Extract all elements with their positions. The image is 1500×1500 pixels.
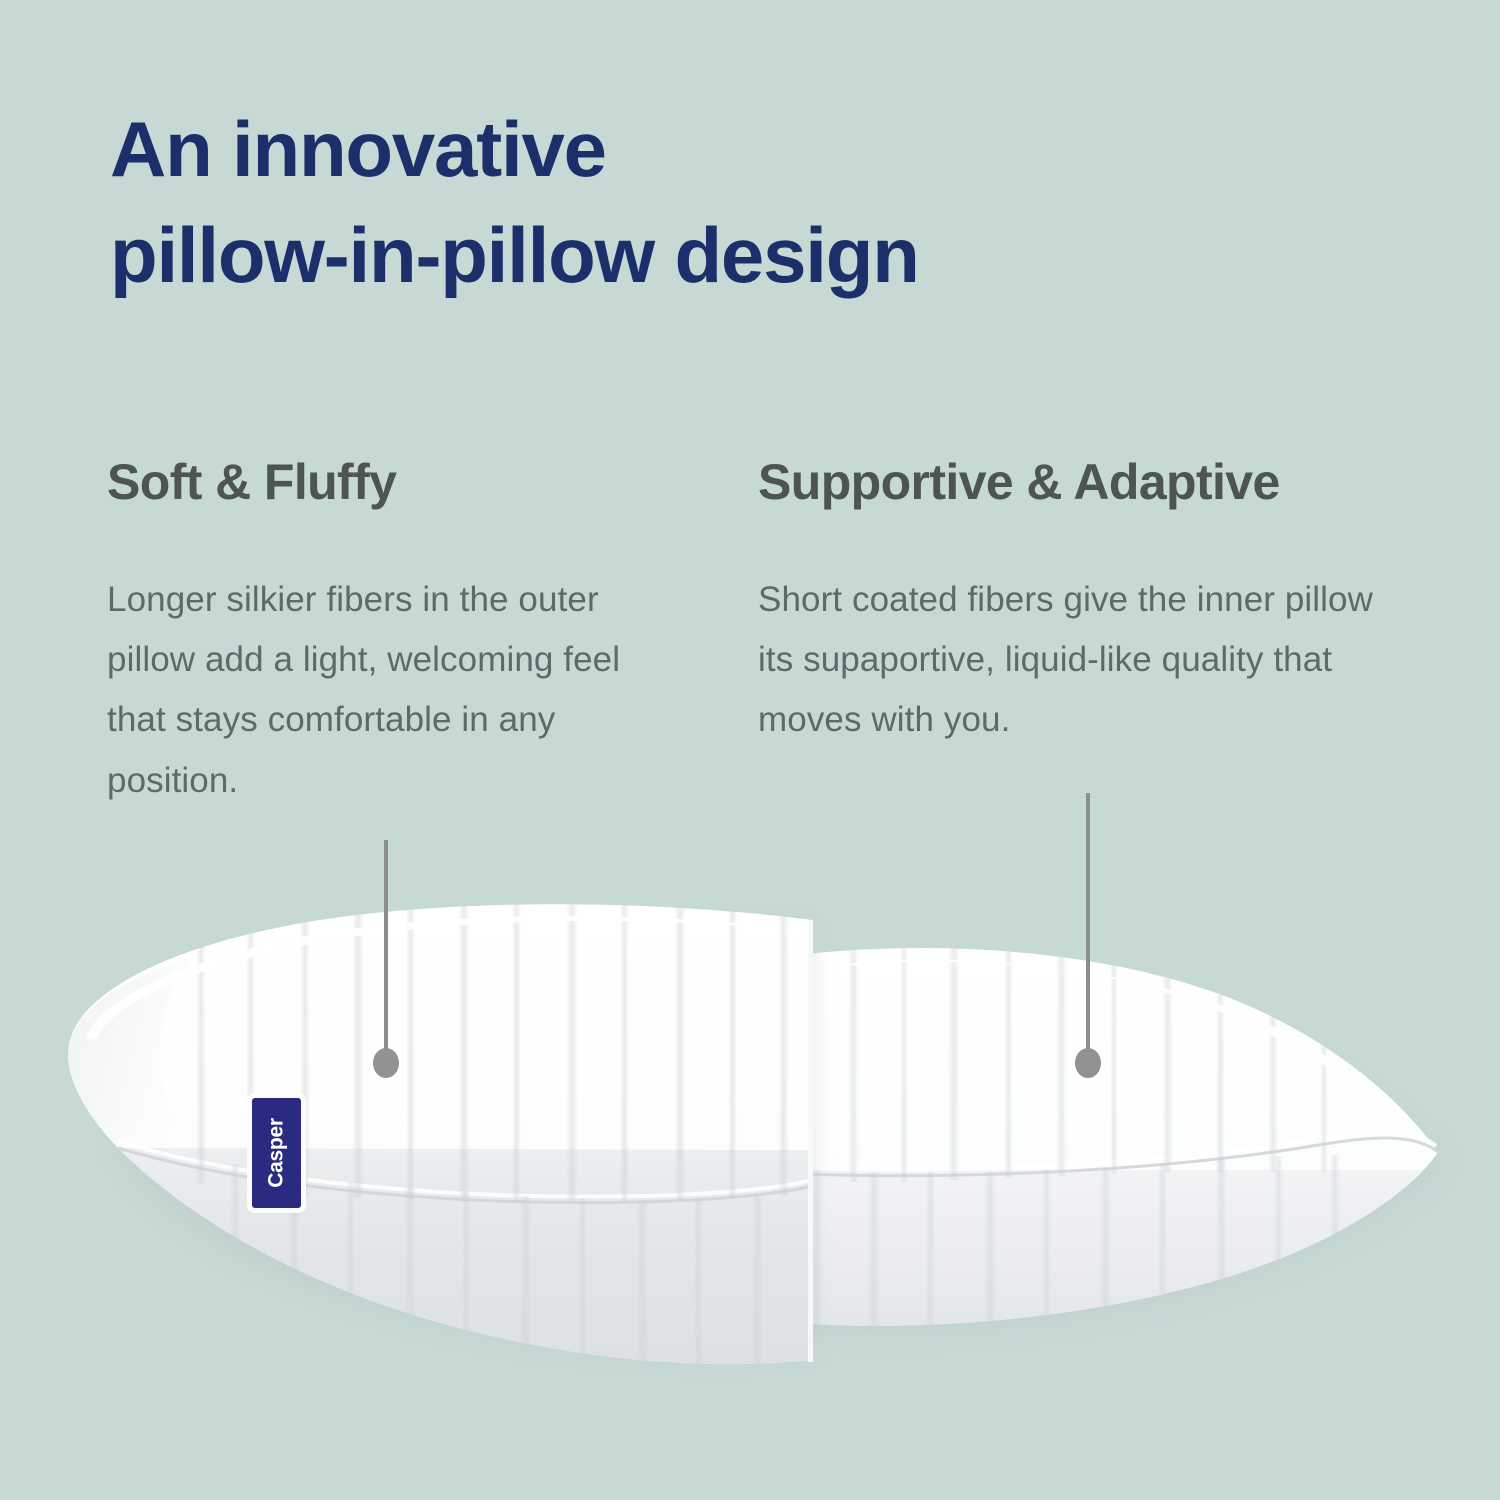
casper-wordmark: Casper	[265, 1118, 289, 1187]
marketing-graphic: An innovative pillow-in-pillow design So…	[0, 0, 1500, 1500]
feature-column-soft-fluffy: Soft & Fluffy Longer silkier fibers in t…	[107, 455, 667, 811]
pointer-line	[1086, 793, 1090, 1056]
casper-brand-tag: Casper	[252, 1098, 301, 1208]
pillow-illustration	[0, 880, 1500, 1440]
feature-heading-soft-fluffy: Soft & Fluffy	[107, 455, 667, 510]
feature-heading-supportive-adaptive: Supportive & Adaptive	[758, 455, 1418, 510]
pointer-line	[384, 840, 388, 1056]
feature-column-supportive-adaptive: Supportive & Adaptive Short coated fiber…	[758, 455, 1418, 751]
pointer-dot	[373, 1048, 399, 1078]
inner-pillow	[740, 936, 1460, 1370]
feature-body-soft-fluffy: Longer silkier fibers in the outer pillo…	[107, 570, 667, 811]
page-title: An innovative pillow-in-pillow design	[110, 96, 1210, 308]
feature-body-supportive-adaptive: Short coated fibers give the inner pillo…	[758, 570, 1418, 751]
outer-pillow	[60, 900, 820, 1388]
pointer-dot	[1075, 1048, 1101, 1078]
